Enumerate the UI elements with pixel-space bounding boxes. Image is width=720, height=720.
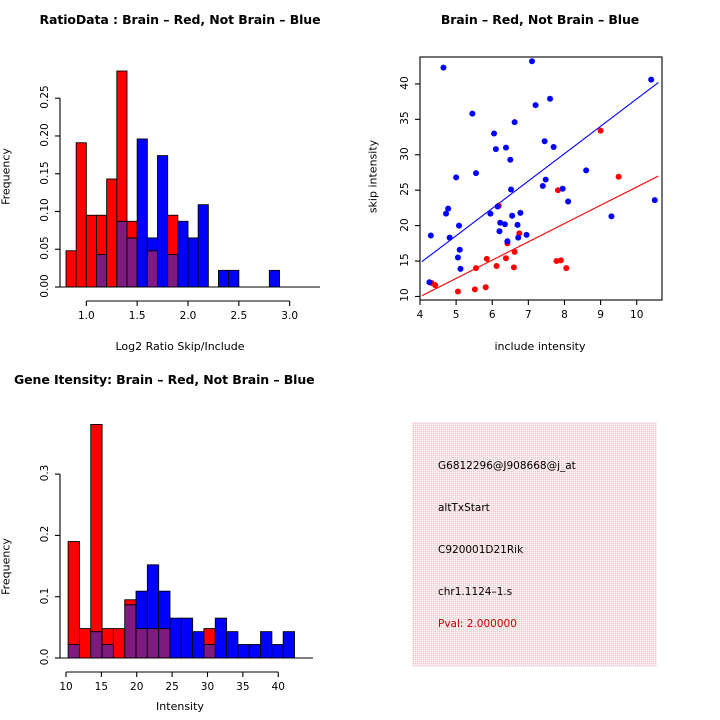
scatter-point	[543, 177, 549, 183]
scatter-point	[503, 255, 509, 261]
y-tick-label: 0.3	[39, 457, 51, 489]
hist-bar-overlap	[91, 632, 102, 658]
info-pval: Pval: 2.000000	[438, 618, 517, 630]
scatter-point	[456, 223, 462, 229]
scatter-point	[483, 284, 489, 290]
hist-bar-overlap	[147, 629, 158, 658]
x-tick-label: 2.5	[219, 310, 259, 322]
y-tick-label: 0.10	[39, 194, 51, 226]
scatter-plot	[360, 0, 720, 360]
hist-bar	[198, 205, 208, 287]
scatter-point	[453, 174, 459, 180]
hist-bar-overlap	[204, 645, 215, 658]
hist-bar-overlap	[168, 255, 178, 287]
hist-bar	[113, 629, 124, 658]
hist-bar-overlap	[102, 645, 113, 658]
y-tick-label: 20	[399, 209, 411, 241]
scatter-point	[472, 286, 478, 292]
hist-bar	[168, 215, 178, 254]
hist-bar	[159, 591, 170, 628]
hist-bar	[68, 542, 79, 645]
hist-bar	[178, 221, 188, 287]
scatter-point	[616, 174, 622, 180]
ratio-histogram-title: RatioData : Brain – Red, Not Brain – Blu…	[0, 12, 360, 27]
hist-bar	[188, 238, 198, 287]
r-multipanel-figure: RatioData : Brain – Red, Not Brain – Blu…	[0, 0, 720, 720]
x-tick-label: 30	[187, 681, 227, 693]
scatter-point	[512, 249, 518, 255]
hist-bar	[283, 632, 294, 658]
hist-bar-overlap	[147, 251, 157, 287]
y-tick-label: 25	[399, 173, 411, 205]
scatter-point	[428, 233, 434, 239]
gene-histogram-ylabel: Frequency	[0, 507, 13, 627]
scatter-point	[515, 222, 521, 228]
x-tick-label: 20	[117, 681, 157, 693]
scatter-point	[491, 131, 497, 137]
hist-bar	[181, 618, 192, 658]
hist-bar	[193, 632, 204, 658]
hist-bar-overlap	[159, 629, 170, 658]
scatter-point	[473, 170, 479, 176]
hist-bar	[147, 238, 157, 251]
scatter-point	[484, 256, 490, 262]
hist-bar	[158, 156, 168, 287]
scatter-point	[440, 65, 446, 71]
scatter-point	[608, 213, 614, 219]
y-tick-label: 0.05	[39, 232, 51, 264]
hist-bar	[261, 632, 272, 658]
x-tick-label: 1.0	[66, 310, 106, 322]
info-probe-id: G6812296@J908668@j_at	[438, 460, 576, 472]
hist-bar	[127, 221, 137, 238]
scatter-point	[558, 257, 564, 263]
scatter-point	[469, 111, 475, 117]
info-gene-symbol: C920001D21Rik	[438, 544, 523, 556]
x-tick-label: 15	[81, 681, 121, 693]
hist-bar	[97, 215, 107, 254]
scatter-point	[503, 145, 509, 151]
scatter-point	[652, 197, 658, 203]
x-tick-label: 5	[436, 309, 476, 321]
hist-bar-overlap	[127, 238, 137, 287]
scatter-point	[447, 235, 453, 241]
y-tick-label: 0.1	[39, 580, 51, 612]
scatter-point	[529, 58, 535, 64]
y-tick-label: 0.2	[39, 518, 51, 550]
hist-bar-overlap	[68, 645, 79, 658]
gene-histogram-title: Gene Itensity: Brain – Red, Not Brain – …	[14, 372, 360, 387]
y-tick-label: 0.0	[39, 641, 51, 673]
scatter-point	[426, 279, 432, 285]
hist-bar	[249, 645, 260, 658]
hist-bar	[204, 629, 215, 645]
scatter-point	[509, 213, 515, 219]
scatter-point	[495, 203, 501, 209]
hist-bar	[91, 424, 102, 631]
hist-bar	[107, 179, 117, 287]
hist-bar	[147, 565, 158, 629]
hist-bar-overlap	[136, 629, 147, 658]
y-tick-label: 40	[399, 67, 411, 99]
info-coordinate: chr1.1124–1.s	[438, 586, 512, 598]
scatter-point	[493, 146, 499, 152]
scatter-point	[551, 144, 557, 150]
panel-scatter: Brain – Red, Not Brain – Blue include in…	[360, 0, 720, 360]
hist-bar	[219, 270, 229, 287]
scatter-point	[457, 247, 463, 253]
ratio-histogram-plot	[0, 0, 360, 360]
scatter-point	[524, 232, 530, 238]
scatter-point	[445, 206, 451, 212]
x-tick-label: 10	[46, 681, 86, 693]
x-tick-label: 9	[581, 309, 621, 321]
panel-ratio-histogram: RatioData : Brain – Red, Not Brain – Blu…	[0, 0, 360, 360]
hist-bar	[66, 251, 76, 287]
scatter-point	[508, 186, 514, 192]
scatter-point	[455, 254, 461, 260]
hist-bar	[102, 629, 113, 645]
x-tick-label: 8	[544, 309, 584, 321]
hist-bar	[238, 645, 249, 658]
hist-bar-overlap	[125, 605, 136, 658]
hist-bar-overlap	[97, 255, 107, 287]
hist-bar	[117, 71, 127, 221]
x-tick-label: 7	[508, 309, 548, 321]
x-tick-label: 35	[223, 681, 263, 693]
regression-line	[422, 176, 659, 296]
scatter-point	[565, 199, 571, 205]
scatter-point	[533, 102, 539, 108]
scatter-point	[432, 282, 438, 288]
scatter-point	[504, 238, 510, 244]
y-tick-label: 0.15	[39, 157, 51, 189]
panel-info: G6812296@J908668@j_at altTxStart C920001…	[360, 360, 720, 720]
scatter-point	[494, 263, 500, 269]
scatter-point	[507, 157, 513, 163]
scatter-point	[547, 96, 553, 102]
scatter-point	[511, 264, 517, 270]
scatter-point	[455, 288, 461, 294]
scatter-title: Brain – Red, Not Brain – Blue	[360, 12, 720, 27]
x-tick-label: 10	[617, 309, 657, 321]
scatter-point	[473, 265, 479, 271]
hist-bar	[229, 270, 239, 287]
hist-bar	[125, 600, 136, 605]
scatter-point	[542, 138, 548, 144]
x-tick-label: 6	[472, 309, 512, 321]
hist-bar	[272, 645, 283, 658]
info-event-type: altTxStart	[438, 502, 490, 514]
y-tick-label: 0.20	[39, 119, 51, 151]
hist-bar	[136, 591, 147, 628]
hist-bar	[79, 629, 90, 658]
x-tick-label: 1.5	[117, 310, 157, 322]
y-tick-label: 10	[399, 279, 411, 311]
gene-histogram-xlabel: Intensity	[0, 700, 360, 713]
ratio-histogram-xlabel: Log2 Ratio Skip/Include	[0, 340, 360, 353]
scatter-point	[487, 211, 493, 217]
y-tick-label: 0.25	[39, 81, 51, 113]
y-tick-label: 0.00	[39, 270, 51, 302]
hist-bar	[227, 632, 238, 658]
scatter-point	[512, 119, 518, 125]
scatter-point	[648, 77, 654, 83]
scatter-ylabel: skip intensity	[367, 117, 380, 237]
x-tick-label: 3.0	[270, 310, 310, 322]
scatter-point	[515, 235, 521, 241]
hist-bar	[76, 143, 86, 287]
x-tick-label: 2.0	[168, 310, 208, 322]
hist-bar	[137, 139, 147, 287]
scatter-point	[502, 221, 508, 227]
scatter-point	[560, 186, 566, 192]
scatter-point	[496, 228, 502, 234]
hist-bar	[170, 618, 181, 658]
scatter-point	[457, 266, 463, 272]
hist-bar	[86, 215, 96, 287]
hist-bar	[215, 618, 226, 658]
scatter-point	[517, 210, 523, 216]
scatter-point	[540, 183, 546, 189]
info-box: G6812296@J908668@j_at altTxStart C920001…	[412, 422, 657, 667]
scatter-point	[583, 167, 589, 173]
ratio-histogram-ylabel: Frequency	[0, 117, 13, 237]
regression-line	[422, 83, 659, 262]
scatter-xlabel: include intensity	[360, 340, 720, 353]
x-tick-label: 40	[258, 681, 298, 693]
panel-gene-histogram: Gene Itensity: Brain – Red, Not Brain – …	[0, 360, 360, 720]
hist-bar	[269, 270, 279, 287]
hist-bar-overlap	[117, 221, 127, 287]
y-tick-label: 35	[399, 102, 411, 134]
y-tick-label: 15	[399, 244, 411, 276]
y-tick-label: 30	[399, 138, 411, 170]
scatter-point	[598, 128, 604, 134]
scatter-point	[563, 265, 569, 271]
x-tick-label: 25	[152, 681, 192, 693]
gene-histogram-plot	[0, 360, 360, 720]
